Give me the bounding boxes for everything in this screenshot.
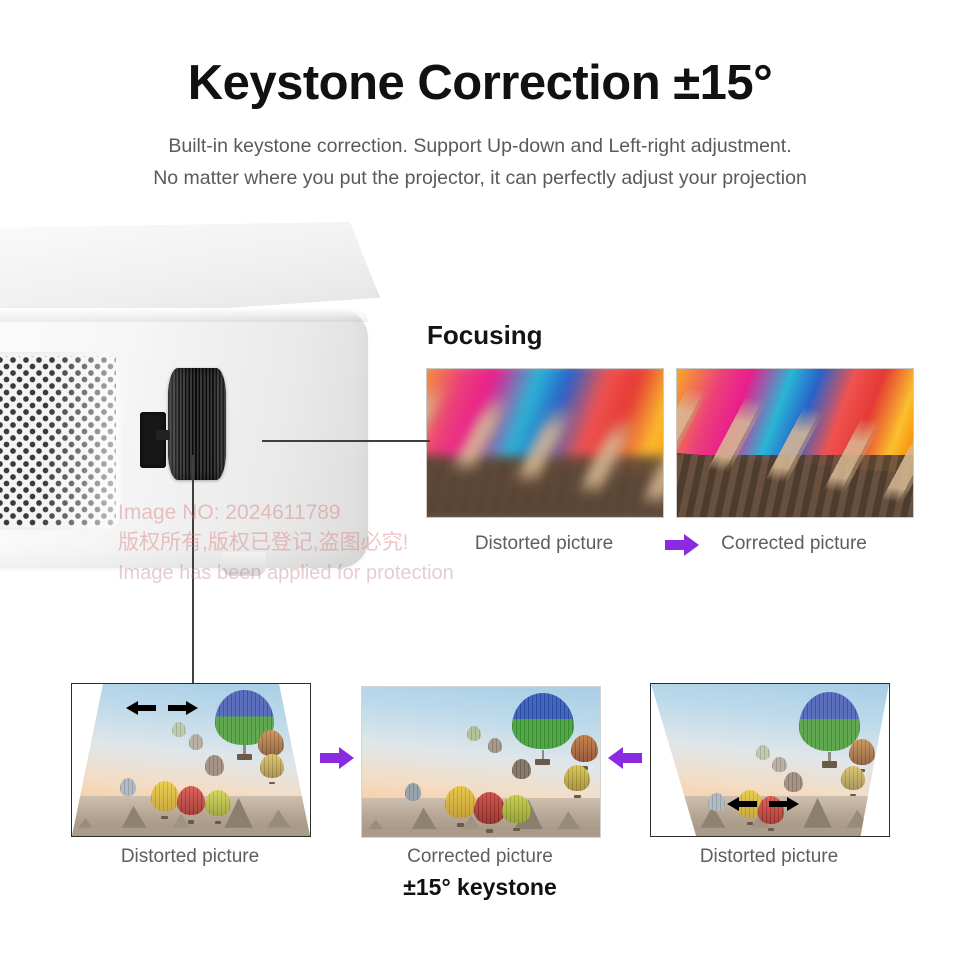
balloon-medium-2 xyxy=(841,766,865,796)
balloon-small-3 xyxy=(205,755,224,781)
keystone-distorted-left-image xyxy=(71,683,311,837)
keystone-slider-icon[interactable] xyxy=(140,412,166,468)
focus-dial-icon[interactable] xyxy=(168,368,226,480)
balloon-green xyxy=(205,790,231,823)
keystone-corrected-image xyxy=(361,686,601,838)
subtitle-line-1: Built-in keystone correction. Support Up… xyxy=(0,131,960,163)
focus-corrected-caption: Corrected picture xyxy=(676,533,912,555)
balloon-yellow xyxy=(445,786,476,827)
balloon-small-1 xyxy=(467,726,481,746)
connector-line-focus xyxy=(262,440,430,442)
colored-pencils-photo-sharp xyxy=(677,369,913,517)
balloon-small-2 xyxy=(488,738,502,758)
keystone-distorted-right-image xyxy=(650,683,890,837)
page-title: Keystone Correction ±15° xyxy=(0,58,960,109)
balloon-small-1 xyxy=(172,722,186,742)
focus-corrected-image xyxy=(676,368,914,518)
balloon-medium-2 xyxy=(260,754,284,784)
balloon-red xyxy=(177,786,206,824)
subtitle: Built-in keystone correction. Support Up… xyxy=(0,131,960,194)
balloon-small-3 xyxy=(784,772,803,798)
arrow-left-icon-keystone xyxy=(608,746,642,770)
vent-grille xyxy=(0,352,122,530)
balloon-small-4 xyxy=(120,778,137,801)
header: Keystone Correction ±15° Built-in keysto… xyxy=(0,0,960,195)
balloon-small-3 xyxy=(512,759,531,785)
horizontal-double-arrow-icon-left xyxy=(126,700,198,716)
balloon-small-4 xyxy=(405,783,422,806)
keystone-center-caption: Corrected picture xyxy=(361,846,599,868)
balloon-large xyxy=(512,693,574,765)
balloon-yellow xyxy=(151,781,180,819)
projector-top-edge xyxy=(0,308,368,322)
focusing-section-label: Focusing xyxy=(427,320,543,351)
arrow-right-icon-keystone xyxy=(320,746,354,770)
vent-highlight xyxy=(0,352,122,530)
subtitle-line-2: No matter where you put the projector, i… xyxy=(0,163,960,195)
balloon-small-2 xyxy=(189,734,203,754)
balloon-red xyxy=(474,792,505,833)
colored-pencils-photo-blurred xyxy=(426,368,664,518)
balloon-medium-2 xyxy=(564,765,590,798)
product-infographic: Keystone Correction ±15° Built-in keysto… xyxy=(0,0,960,960)
keystone-slider-nub[interactable] xyxy=(156,430,170,440)
projector-foot xyxy=(222,552,266,576)
connector-line-keystone xyxy=(192,455,194,683)
keystone-footer-label: ±15° keystone xyxy=(361,874,599,901)
balloon-green xyxy=(502,795,531,831)
horizontal-double-arrow-icon-right xyxy=(727,796,799,812)
balloon-scene-center xyxy=(362,687,600,837)
balloon-small-1 xyxy=(756,745,770,765)
focus-distorted-image xyxy=(426,368,664,518)
keystone-right-caption: Distorted picture xyxy=(650,846,888,868)
keystone-left-caption: Distorted picture xyxy=(71,846,309,868)
dial-sheen xyxy=(168,368,226,480)
focus-distorted-caption: Distorted picture xyxy=(426,533,662,555)
projector-device xyxy=(0,222,390,622)
balloon-small-4 xyxy=(708,793,725,816)
